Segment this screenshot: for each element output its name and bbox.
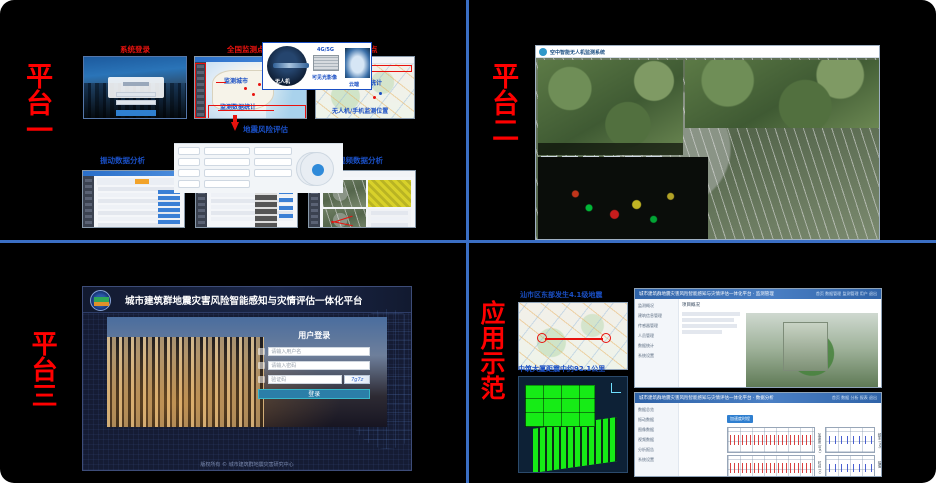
login-title-bar <box>123 82 149 86</box>
lock-icon <box>258 362 265 369</box>
video-info-panel <box>368 209 411 228</box>
chart-accel-x[interactable] <box>727 427 815 453</box>
info-row <box>371 211 408 215</box>
login-form[interactable]: 用户登录 请输入用户名 请输入密码 验证码 7g7z 登录 <box>258 330 370 399</box>
control-button[interactable] <box>178 147 200 155</box>
text-line <box>682 312 740 316</box>
aerial-view-2[interactable] <box>685 60 879 128</box>
slide-canvas: 平台一 系统登录 全国监测点分布 广个监测点 <box>0 0 936 483</box>
app-title: 城市建筑群地震灾害风险智能感知与灾情评估一体化平台 · 数据分析 <box>639 395 774 401</box>
uav-label: 无人机 <box>275 78 290 85</box>
control-button[interactable] <box>204 158 250 166</box>
direction-pad-right[interactable] <box>300 152 334 186</box>
content-area: 加速度时程 加速度 (gal) 时间 (s) 频率 (Hz) 幅值 <box>679 403 881 476</box>
app-sidebar[interactable] <box>83 176 94 227</box>
control-button[interactable] <box>178 169 200 177</box>
captcha-image[interactable]: 7g7z <box>344 375 370 384</box>
app-titlebar: 城市建筑群地震灾害风险智能感知与灾情评估一体化平台 · 监测管理 首页 数据管理… <box>635 289 881 299</box>
control-button[interactable] <box>254 158 292 166</box>
caption-earthquake-event: 汕市区东部发生4.1级地震 <box>520 290 602 300</box>
control-column-flight[interactable] <box>254 147 292 180</box>
chart-series-line <box>827 464 873 472</box>
control-button[interactable] <box>254 147 292 155</box>
caption-vibration-analysis: 振动数据分析 <box>100 155 145 166</box>
control-button[interactable] <box>254 169 292 177</box>
control-button[interactable] <box>204 180 250 188</box>
sidebar-item[interactable]: 数据总览 <box>638 407 675 413</box>
row-action-button[interactable] <box>158 214 180 218</box>
captcha-row[interactable]: 验证码 7g7z <box>258 375 370 384</box>
sidebar-item[interactable]: 分析报告 <box>638 447 675 453</box>
chart-ylabel-amp: 幅值 <box>878 461 882 468</box>
control-button[interactable] <box>178 158 200 166</box>
sidebar-item[interactable]: 图像数据 <box>638 427 675 433</box>
login-submit-button[interactable]: 登录 <box>258 389 370 399</box>
section-title: 项目概况 <box>682 302 878 308</box>
map-marker[interactable] <box>379 92 382 95</box>
row-action-button[interactable] <box>158 208 180 212</box>
aerial-view-1[interactable] <box>538 60 683 155</box>
row-action-button[interactable] <box>158 220 180 224</box>
row-action-button[interactable] <box>279 198 293 202</box>
distance-line <box>545 338 603 340</box>
platform-one-label: 平台一 <box>22 62 51 143</box>
password-field[interactable] <box>116 100 155 105</box>
caption-distance-to-epicenter: 中筑大厦距震中约92.1公里 <box>518 364 605 374</box>
link-label: 4G/5G <box>317 47 334 53</box>
dataset-tag-button[interactable]: 加速度时程 <box>727 415 753 423</box>
application-demo-label: 应用示范 <box>478 300 505 400</box>
sidebar-item[interactable]: 人员管理 <box>638 333 675 339</box>
uav-control-panel[interactable] <box>174 143 343 193</box>
building-fem-model[interactable] <box>518 376 628 473</box>
app-sidebar[interactable]: 监测概况 建筑信息管理 传感器管理 人员管理 数据统计 系统设置 <box>635 299 679 387</box>
flow-label-risk-assessment: 地震风险评估 <box>243 124 288 135</box>
sidebar-item[interactable]: 系统设置 <box>638 353 675 359</box>
platform-logo-icon <box>90 290 111 311</box>
row-action-button[interactable] <box>279 214 293 218</box>
joystick-hub[interactable] <box>312 164 324 176</box>
annotation-arrow <box>216 82 226 83</box>
uav-transmission-diagram: 无人机 4G/5G 可见光影像 云端 <box>262 42 372 90</box>
control-button[interactable] <box>178 180 200 188</box>
chart-accel-y[interactable] <box>727 455 815 477</box>
row-action-button[interactable] <box>158 202 180 206</box>
text-line <box>682 324 737 328</box>
control-column-tools[interactable] <box>204 147 250 191</box>
flow-arrow-stem <box>233 115 237 124</box>
caption-system-login: 系统登录 <box>120 44 150 55</box>
chart-spectrum-x[interactable] <box>825 427 875 453</box>
chart-series-line <box>729 435 813 445</box>
video-tile-detection[interactable] <box>368 180 411 207</box>
video-tile[interactable] <box>323 209 366 228</box>
cloud-node-image <box>345 48 370 78</box>
screenshot-integrated-platform-login[interactable]: 城市建筑群地震灾害风险智能感知与灾情评估一体化平台 用户登录 请输入用户名 请输… <box>82 286 412 471</box>
sidebar-item[interactable]: 系统设置 <box>638 457 675 463</box>
annotation-monitor-city: 监测城市 <box>224 76 248 85</box>
platform-footer: 版权所有 © 城市建筑群地震灾害研究中心 <box>83 461 411 468</box>
model-gridlines <box>525 385 595 427</box>
annotation-uav-phone-position: 无人机/手机监测位置 <box>332 106 388 115</box>
login-heading: 用户登录 <box>258 330 370 341</box>
username-row[interactable]: 请输入用户名 <box>258 347 370 356</box>
info-row <box>371 223 408 227</box>
chart-series-line <box>827 436 873 444</box>
row-action-button[interactable] <box>158 196 180 200</box>
login-button[interactable] <box>116 110 155 116</box>
green-building <box>783 322 828 371</box>
login-box[interactable] <box>108 77 163 98</box>
map-marker[interactable] <box>244 87 247 90</box>
header-nav[interactable]: 首页 数据 分析 报表 退出 <box>832 395 877 401</box>
data-table[interactable] <box>94 176 184 227</box>
sidebar-item[interactable]: 传感器管理 <box>638 323 675 329</box>
telemetry-overlay <box>538 143 683 155</box>
axis-triad-icon <box>611 383 621 393</box>
highlight-stats-row <box>208 105 306 119</box>
username-input[interactable]: 请输入用户名 <box>268 347 370 356</box>
hero-city-image: 用户登录 请输入用户名 请输入密码 验证码 7g7z 登录 <box>107 317 387 427</box>
caption-video-analysis: 视频数据分析 <box>338 155 383 166</box>
app-sidebar[interactable]: 数据总览 振动数据 图像数据 视频数据 分析报告 系统设置 <box>635 403 679 476</box>
chart-xlabel-freq: 频率 (Hz) <box>878 433 882 448</box>
text-line <box>682 318 734 322</box>
app-logo-icon <box>539 48 547 56</box>
header-nav[interactable]: 首页 数据管理 监测管理 用户 退出 <box>816 291 877 297</box>
sidebar-item[interactable]: 振动数据 <box>638 417 675 423</box>
screenshot-vibration-table[interactable] <box>82 170 185 228</box>
platform-title: 城市建筑群地震灾害风险智能感知与灾情评估一体化平台 <box>125 293 363 307</box>
chart-xlabel-time: 时间 (s) <box>818 461 823 474</box>
control-button[interactable] <box>204 169 250 177</box>
toolbar-highlight <box>135 179 149 184</box>
chart-ylabel-accel: 加速度 (gal) <box>818 433 823 453</box>
app-title: 城市建筑群地震灾害风险智能感知与灾情评估一体化平台 · 监测管理 <box>639 291 774 297</box>
screenshot-system-login[interactable] <box>83 56 187 119</box>
satellite-basemap[interactable] <box>536 58 879 239</box>
control-column-tasks[interactable] <box>178 147 200 191</box>
visible-light-image <box>313 55 339 71</box>
password-input[interactable]: 请输入密码 <box>268 361 370 370</box>
sidebar-item[interactable]: 建筑信息管理 <box>638 313 675 319</box>
earthquake-epicenter-map[interactable] <box>518 302 628 370</box>
chart-spectrum-y[interactable] <box>825 455 875 477</box>
sidebar-item[interactable]: 视频数据 <box>638 437 675 443</box>
app-titlebar: 空中智能无人机监测系统 <box>536 46 879 58</box>
shield-icon <box>258 376 265 383</box>
control-button[interactable] <box>204 147 250 155</box>
thumbnail-strip[interactable] <box>255 188 277 228</box>
screenshot-uav-monitoring-system[interactable]: 空中智能无人机监测系统 <box>535 45 880 240</box>
platform-three-label: 平台三 <box>28 330 56 408</box>
logo-orange-band <box>94 302 109 306</box>
detection-line <box>331 221 353 227</box>
app-titlebar: 城市建筑群地震灾害风险智能感知与灾情评估一体化平台 · 数据分析 首页 数据 分… <box>635 393 881 403</box>
user-icon <box>258 348 265 355</box>
table-toolbar[interactable] <box>97 178 181 185</box>
image-label: 可见光影像 <box>312 74 337 81</box>
3d-damage-model[interactable] <box>538 157 708 239</box>
highlight-sidebar <box>195 63 206 118</box>
platform-two-label: 平台二 <box>488 62 517 143</box>
sidebar-item[interactable]: 监测概况 <box>638 303 675 309</box>
row-action-button[interactable] <box>279 206 293 210</box>
quadrant-platform-one: 平台一 系统登录 全国监测点分布 广个监测点 <box>0 0 466 240</box>
platform-header: 城市建筑群地震灾害风险智能感知与灾情评估一体化平台 <box>83 287 411 313</box>
cloud-label: 云端 <box>349 81 359 88</box>
info-row <box>371 217 408 221</box>
screenshot-data-analysis[interactable]: 城市建筑群地震灾害风险智能感知与灾情评估一体化平台 · 数据分析 首页 数据 分… <box>634 392 882 477</box>
screenshot-monitoring-overview[interactable]: 城市建筑群地震灾害风险智能感知与灾情评估一体化平台 · 监测管理 首页 数据管理… <box>634 288 882 388</box>
sidebar-item[interactable]: 数据统计 <box>638 343 675 349</box>
username-field[interactable] <box>116 92 155 97</box>
password-row[interactable]: 请输入密码 <box>258 361 370 370</box>
content-area: 项目概况 <box>679 299 881 387</box>
chart-series-line <box>729 463 813 473</box>
text-line <box>682 330 722 334</box>
drone-icon <box>273 63 309 68</box>
building-photo <box>746 313 878 387</box>
captcha-input[interactable]: 验证码 <box>268 375 342 384</box>
app-title: 空中智能无人机监测系统 <box>550 49 605 56</box>
